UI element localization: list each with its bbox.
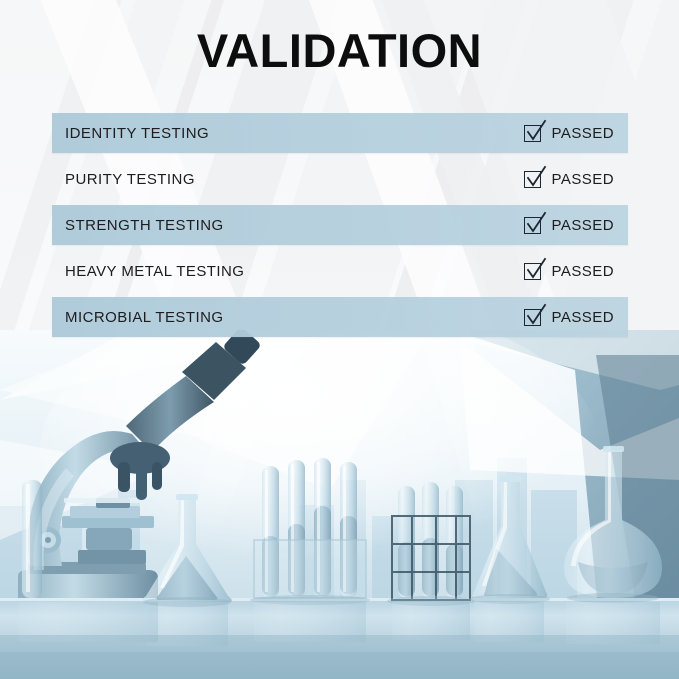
table-row: MICROBIAL TESTING PASSED [52, 297, 628, 337]
status-label: PASSED [552, 263, 614, 280]
test-name-label: IDENTITY TESTING [65, 125, 209, 142]
row-status: PASSED [524, 251, 614, 291]
test-name-label: MICROBIAL TESTING [65, 309, 224, 326]
row-status: PASSED [524, 113, 614, 153]
checked-checkbox-icon[interactable] [524, 124, 543, 143]
test-name-label: PURITY TESTING [65, 171, 195, 188]
lab-photo [0, 330, 679, 679]
table-row: HEAVY METAL TESTING PASSED [52, 251, 628, 291]
table-row: PURITY TESTING PASSED [52, 159, 628, 199]
status-label: PASSED [552, 171, 614, 188]
row-status: PASSED [524, 205, 614, 245]
test-name-label: STRENGTH TESTING [65, 217, 224, 234]
test-name-label: HEAVY METAL TESTING [65, 263, 244, 280]
row-status: PASSED [524, 159, 614, 199]
row-status: PASSED [524, 297, 614, 337]
checked-checkbox-icon[interactable] [524, 216, 543, 235]
checked-checkbox-icon[interactable] [524, 262, 543, 281]
table-row: STRENGTH TESTING PASSED [52, 205, 628, 245]
validation-table: IDENTITY TESTING PASSED PURITY TESTING [52, 113, 628, 343]
validation-infographic: VALIDATION IDENTITY TESTING PASSED PURIT… [0, 0, 679, 679]
checked-checkbox-icon[interactable] [524, 308, 543, 327]
status-label: PASSED [552, 125, 614, 142]
page-title: VALIDATION [0, 26, 679, 75]
status-label: PASSED [552, 217, 614, 234]
status-label: PASSED [552, 309, 614, 326]
table-row: IDENTITY TESTING PASSED [52, 113, 628, 153]
checked-checkbox-icon[interactable] [524, 170, 543, 189]
